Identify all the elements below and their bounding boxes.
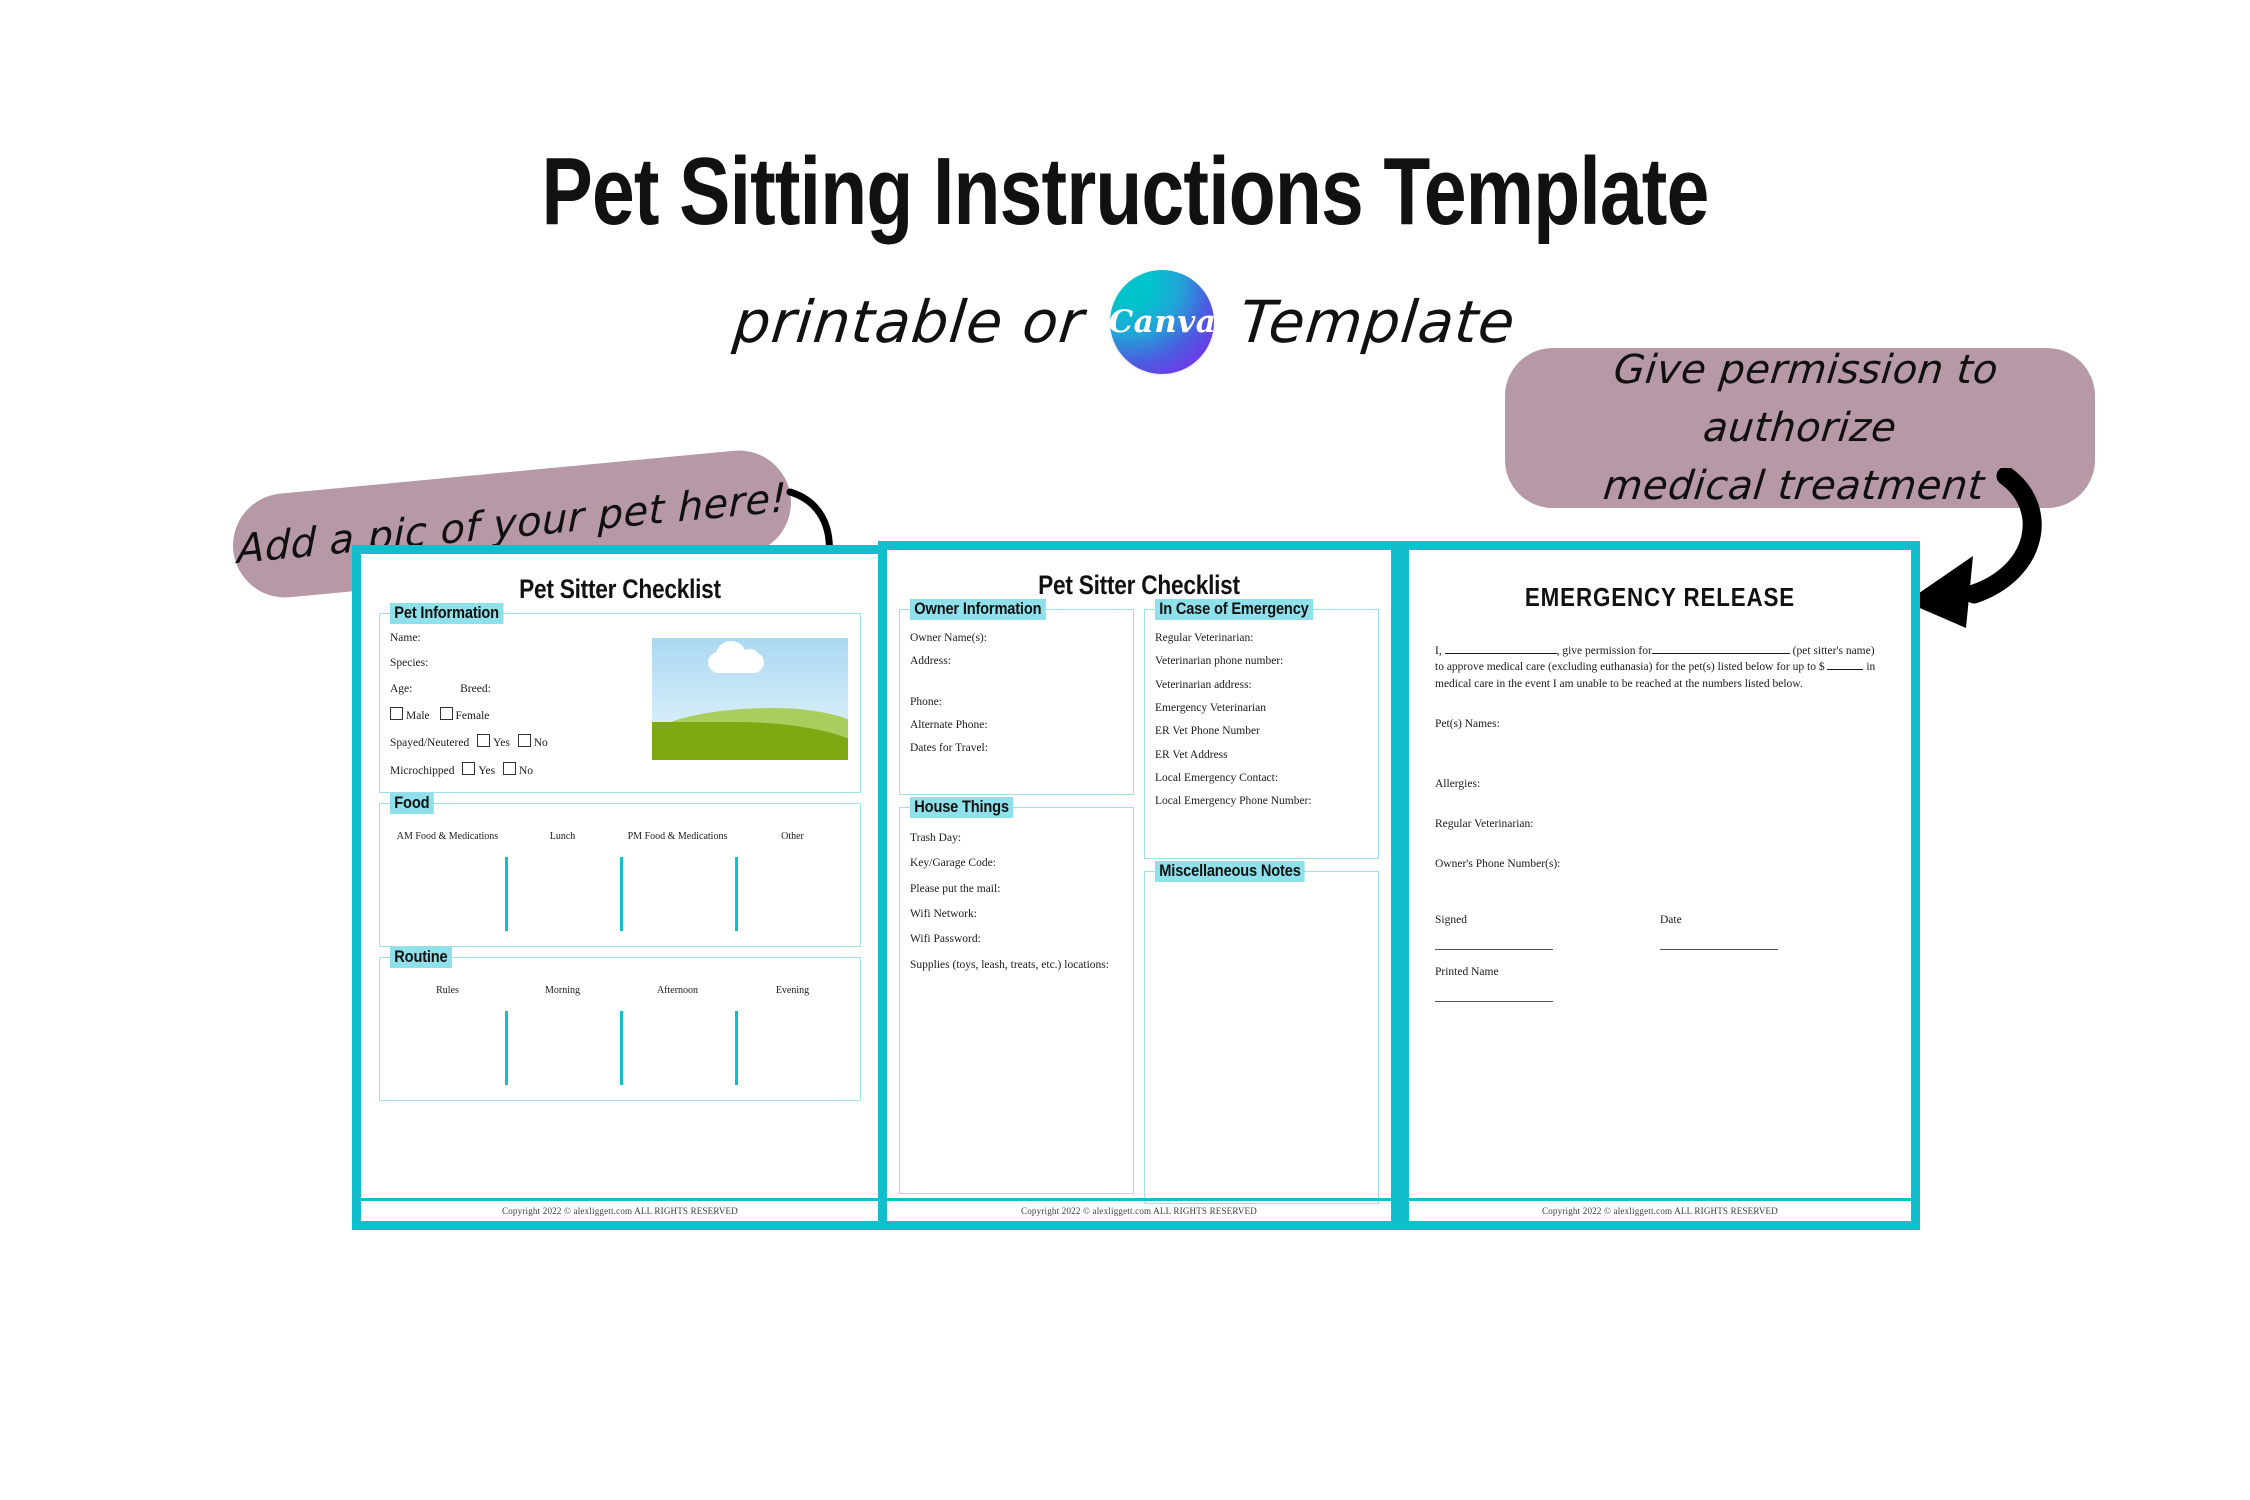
food-label-pm: PM Food & Medications xyxy=(620,829,735,843)
routine-column-rules[interactable]: Rules xyxy=(390,983,505,1091)
field-pets-names[interactable]: Pet(s) Names: xyxy=(1435,718,1899,730)
page-title: Pet Sitting Instructions Template xyxy=(225,142,2025,243)
field-allergies[interactable]: Allergies: xyxy=(1435,778,1899,790)
printed-name-line[interactable] xyxy=(1435,1000,1553,1002)
field-travel-dates[interactable]: Dates for Travel: xyxy=(910,741,1123,755)
section-routine: Routine Rules Morning Afternoon Evening xyxy=(379,957,861,1101)
emergency-release-paragraph: I, , give permission for (pet sitter's n… xyxy=(1435,643,1885,692)
checkbox-microchipped-yes[interactable] xyxy=(462,762,475,775)
page1-footer: Copyright 2022 © alexliggett.com ALL RIG… xyxy=(361,1198,879,1221)
field-vet-address[interactable]: Veterinarian address: xyxy=(1155,678,1368,692)
signature-column: Signed xyxy=(1435,914,1660,950)
food-label-am: AM Food & Medications xyxy=(390,829,505,843)
field-emergency-vet[interactable]: Emergency Veterinarian xyxy=(1155,701,1368,715)
section-heading-in-case-of-emergency: In Case of Emergency xyxy=(1155,599,1313,620)
routine-column-evening[interactable]: Evening xyxy=(735,983,850,1091)
routine-label-morning: Morning xyxy=(505,983,620,997)
canva-logo-icon: Canva xyxy=(1110,270,1214,374)
section-in-case-of-emergency: In Case of Emergency Regular Veterinaria… xyxy=(1144,609,1379,859)
field-er-vet-phone[interactable]: ER Vet Phone Number xyxy=(1155,724,1368,738)
blank-sitter-name[interactable] xyxy=(1652,653,1790,654)
page3-footer: Copyright 2022 © alexliggett.com ALL RIG… xyxy=(1409,1198,1911,1221)
label-microchipped: Microchipped xyxy=(390,765,455,777)
subtitle-template: Template xyxy=(1237,288,1519,356)
field-vet-phone[interactable]: Veterinarian phone number: xyxy=(1155,654,1368,668)
field-regular-vet[interactable]: Regular Veterinarian: xyxy=(1155,631,1368,645)
cloud-icon xyxy=(708,652,764,673)
routine-label-rules: Rules xyxy=(390,983,505,997)
food-column-other[interactable]: Other xyxy=(735,829,850,937)
signature-row: Signed Date xyxy=(1435,914,1885,950)
field-wifi-network[interactable]: Wifi Network: xyxy=(910,907,1123,921)
label-microchipped-no: No xyxy=(519,765,533,777)
food-label-lunch: Lunch xyxy=(505,829,620,843)
field-owner-names[interactable]: Owner Name(s): xyxy=(910,631,1123,645)
field-name[interactable]: Name: xyxy=(390,631,590,645)
field-local-emergency-phone[interactable]: Local Emergency Phone Number: xyxy=(1155,794,1368,808)
checkbox-male[interactable] xyxy=(390,707,403,720)
checkbox-spayed-no[interactable] xyxy=(518,734,531,747)
page2-heading: Pet Sitter Checklist xyxy=(937,570,1340,601)
label-date: Date xyxy=(1660,914,1885,926)
printed-name-row: Printed Name xyxy=(1435,966,1885,1002)
section-heading-house-things: House Things xyxy=(910,797,1013,818)
label-male: Male xyxy=(406,710,430,722)
field-owner-alt-phone[interactable]: Alternate Phone: xyxy=(910,718,1123,732)
field-owner-address[interactable]: Address: xyxy=(910,654,1123,668)
field-key-garage-code[interactable]: Key/Garage Code: xyxy=(910,856,1123,870)
blank-amount[interactable] xyxy=(1827,669,1863,670)
para-part-2: , give permission for xyxy=(1557,645,1652,657)
poster-canvas: Pet Sitting Instructions Template printa… xyxy=(0,0,2250,1500)
field-sex[interactable]: Male Female xyxy=(390,707,590,723)
field-age-label: Age: xyxy=(390,683,412,695)
label-spayed-neutered: Spayed/Neutered xyxy=(390,737,469,749)
food-label-other: Other xyxy=(735,829,850,843)
field-breed-label: Breed: xyxy=(460,683,491,695)
section-heading-owner-information: Owner Information xyxy=(910,599,1046,620)
section-owner-information: Owner Information Owner Name(s): Address… xyxy=(899,609,1134,795)
food-column-pm[interactable]: PM Food & Medications xyxy=(620,829,735,937)
date-column: Date xyxy=(1660,914,1885,950)
field-regular-veterinarian[interactable]: Regular Veterinarian: xyxy=(1435,818,1899,830)
field-owner-phone[interactable]: Phone: xyxy=(910,695,1123,709)
para-part-1: I, xyxy=(1435,645,1442,657)
routine-column-afternoon[interactable]: Afternoon xyxy=(620,983,735,1091)
food-column-am[interactable]: AM Food & Medications xyxy=(390,829,505,937)
printed-name-spacer xyxy=(1660,966,1885,1002)
field-age-breed[interactable]: Age: Breed: xyxy=(390,682,590,696)
section-house-things: House Things Trash Day: Key/Garage Code:… xyxy=(899,807,1134,1194)
field-local-emergency-contact[interactable]: Local Emergency Contact: xyxy=(1155,771,1368,785)
canva-logo-label: Canva xyxy=(1108,304,1216,340)
para-part-3: (pet sitter's name) to approve medical c… xyxy=(1435,645,1875,673)
section-heading-routine: Routine xyxy=(390,947,452,968)
field-wifi-password[interactable]: Wifi Password: xyxy=(910,932,1123,946)
food-columns: AM Food & Medications Lunch PM Food & Me… xyxy=(390,829,850,937)
page2-footer: Copyright 2022 © alexliggett.com ALL RIG… xyxy=(887,1198,1391,1221)
page1-heading: Pet Sitter Checklist xyxy=(413,574,828,605)
subtitle-printable-or: printable or xyxy=(731,288,1088,356)
food-column-lunch[interactable]: Lunch xyxy=(505,829,620,937)
field-trash-day[interactable]: Trash Day: xyxy=(910,831,1123,845)
document-page-3: EMERGENCY RELEASE I, , give permission f… xyxy=(1400,541,1920,1230)
page2-left-column: Owner Information Owner Name(s): Address… xyxy=(899,609,1134,1204)
document-page-1: Pet Sitter Checklist Pet Information Nam… xyxy=(352,545,888,1230)
routine-column-morning[interactable]: Morning xyxy=(505,983,620,1091)
field-microchipped[interactable]: Microchipped Yes No xyxy=(390,762,590,778)
section-pet-information: Pet Information Name: Species: Age: Bree… xyxy=(379,613,861,793)
field-mail[interactable]: Please put the mail: xyxy=(910,882,1123,896)
pet-photo-placeholder[interactable] xyxy=(652,638,848,760)
field-er-vet-address[interactable]: ER Vet Address xyxy=(1155,748,1368,762)
field-owners-phone-numbers[interactable]: Owner's Phone Number(s): xyxy=(1435,858,1899,870)
checkbox-spayed-yes[interactable] xyxy=(477,734,490,747)
field-species[interactable]: Species: xyxy=(390,656,590,670)
checkbox-microchipped-no[interactable] xyxy=(503,762,516,775)
section-food: Food AM Food & Medications Lunch PM Food… xyxy=(379,803,861,947)
section-miscellaneous-notes[interactable]: Miscellaneous Notes xyxy=(1144,871,1379,1204)
section-heading-miscellaneous-notes: Miscellaneous Notes xyxy=(1155,861,1305,882)
label-spayed-yes: Yes xyxy=(493,737,510,749)
page2-columns: Owner Information Owner Name(s): Address… xyxy=(899,609,1379,1204)
label-spayed-no: No xyxy=(534,737,548,749)
blank-owner-name[interactable] xyxy=(1445,653,1557,654)
label-microchipped-yes: Yes xyxy=(478,765,495,777)
document-page-2: Pet Sitter Checklist Owner Information O… xyxy=(878,541,1400,1230)
field-supplies-locations[interactable]: Supplies (toys, leash, treats, etc.) loc… xyxy=(910,958,1123,972)
date-line[interactable] xyxy=(1660,948,1778,950)
routine-columns: Rules Morning Afternoon Evening xyxy=(390,983,850,1091)
section-heading-food: Food xyxy=(390,793,434,814)
callout-line-1: Give permission to authorize xyxy=(1612,347,2001,451)
section-heading-pet-information: Pet Information xyxy=(390,603,503,624)
label-female: Female xyxy=(456,710,490,722)
page2-right-column: In Case of Emergency Regular Veterinaria… xyxy=(1144,609,1379,1204)
printed-name-column: Printed Name xyxy=(1435,966,1660,1002)
checkbox-female[interactable] xyxy=(440,707,453,720)
page3-heading: EMERGENCY RELEASE xyxy=(1454,582,1865,613)
routine-label-afternoon: Afternoon xyxy=(620,983,735,997)
label-signed: Signed xyxy=(1435,914,1660,926)
routine-label-evening: Evening xyxy=(735,983,850,997)
label-printed-name: Printed Name xyxy=(1435,966,1660,978)
field-spayed-neutered[interactable]: Spayed/Neutered Yes No xyxy=(390,734,590,750)
signature-line[interactable] xyxy=(1435,948,1553,950)
